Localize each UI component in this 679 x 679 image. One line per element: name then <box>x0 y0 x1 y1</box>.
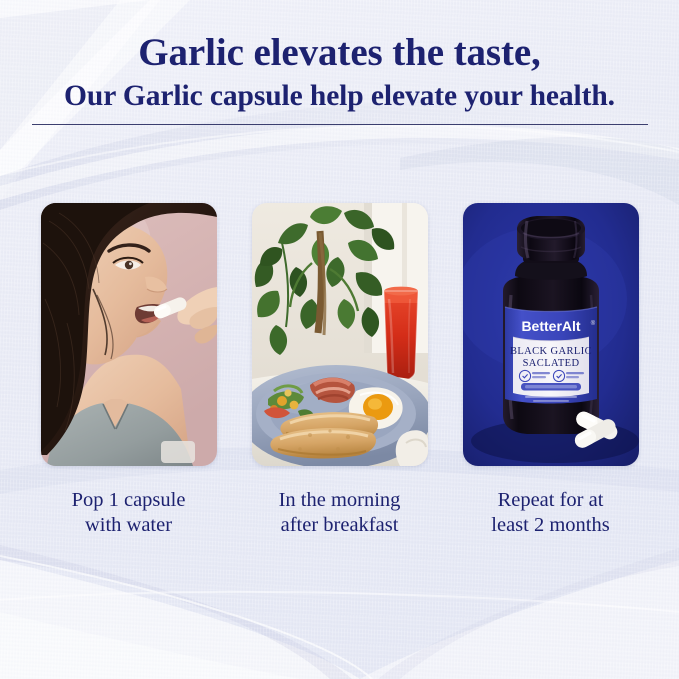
steps-row: Pop 1 capsule with water <box>0 203 679 538</box>
breakfast-plate-photo <box>252 203 428 466</box>
product-infographic: Garlic elevates the taste, Our Garlic ca… <box>0 0 679 679</box>
bottle-product-line-1: BLACK GARLIC <box>509 346 591 357</box>
step-3-caption-line-2: least 2 months <box>463 513 639 538</box>
bottle-brand-text: BetterAlt <box>521 318 580 334</box>
step-1-caption: Pop 1 capsule with water <box>41 488 217 538</box>
supplement-bottle-photo: BetterAlt ® BLACK GARLIC SACLATED <box>463 203 639 466</box>
header: Garlic elevates the taste, Our Garlic ca… <box>0 0 679 113</box>
step-2-caption-line-2: after breakfast <box>252 513 428 538</box>
step-1: Pop 1 capsule with water <box>41 203 217 538</box>
step-3-caption: Repeat for at least 2 months <box>463 488 639 538</box>
step-2: In the morning after breakfast <box>252 203 428 538</box>
step-2-caption: In the morning after breakfast <box>252 488 428 538</box>
page-subtitle: Our Garlic capsule help elevate your hea… <box>0 75 679 113</box>
step-3-caption-line-1: Repeat for at <box>463 488 639 513</box>
step-1-caption-line-1: Pop 1 capsule <box>41 488 217 513</box>
page-title: Garlic elevates the taste, <box>0 0 679 75</box>
woman-taking-capsule-photo <box>41 203 217 466</box>
bottle-brand-mark: ® <box>590 320 595 327</box>
bottle-product-line-2: SACLATED <box>522 358 579 369</box>
step-2-caption-line-1: In the morning <box>252 488 428 513</box>
header-divider <box>32 124 648 125</box>
step-1-caption-line-2: with water <box>41 513 217 538</box>
step-3: BetterAlt ® BLACK GARLIC SACLATED <box>463 203 639 538</box>
